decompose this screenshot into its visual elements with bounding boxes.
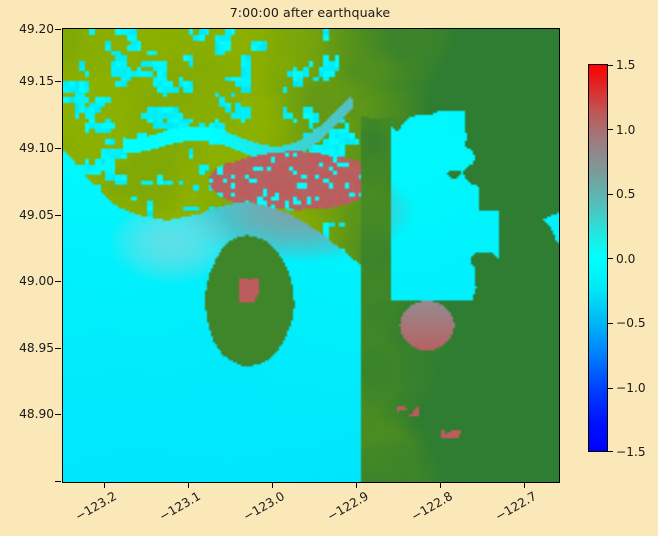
x-axis-labels: −123.2 −123.1 −123.0 −122.9 −122.8 −122.… <box>62 483 558 535</box>
xtick-label: −123.0 <box>232 489 287 529</box>
colorbar-tick-label: −1.5 <box>616 445 646 459</box>
colorbar-tick-mark <box>608 65 613 66</box>
ytick-label: 48.95 <box>2 341 54 355</box>
ytick-label: 49.05 <box>2 208 54 222</box>
ytick-mark <box>55 148 61 149</box>
ytick-label: 48.90 <box>2 407 54 421</box>
xtick-label: −122.7 <box>484 489 539 529</box>
colorbar-gradient <box>588 64 608 452</box>
ytick-label: 49.15 <box>2 74 54 88</box>
colorbar-tick-label: −0.5 <box>616 316 646 330</box>
page-title: 7:00:00 after earthquake <box>62 5 558 20</box>
ytick-mark <box>55 281 61 282</box>
ytick-mark <box>55 81 61 82</box>
y-axis-labels: 49.20 49.15 49.10 49.05 49.00 48.95 48.9… <box>0 28 54 481</box>
colorbar-tick-label: −1.0 <box>616 381 646 395</box>
colorbar-tick-mark <box>608 258 613 259</box>
ytick-label: 49.00 <box>2 274 54 288</box>
xtick-label: −122.8 <box>400 489 455 529</box>
xtick-label: −123.2 <box>64 489 119 529</box>
ytick-mark <box>55 215 61 216</box>
ytick-mark <box>55 29 61 30</box>
ytick-mark <box>55 481 61 482</box>
ytick-mark <box>55 348 61 349</box>
colorbar-tick-label: 1.5 <box>616 58 635 72</box>
colorbar-tick-mark <box>608 451 613 452</box>
ytick-label: 49.10 <box>2 141 54 155</box>
map-axes[interactable] <box>62 28 560 483</box>
colorbar-tick-label: 0.5 <box>616 187 635 201</box>
inundation-heatmap <box>63 29 559 482</box>
colorbar-tick-mark <box>608 194 613 195</box>
colorbar-tick-mark <box>608 129 613 130</box>
colorbar <box>588 64 608 452</box>
xtick-label: −123.1 <box>148 489 203 529</box>
ytick-label: 49.20 <box>2 22 54 36</box>
matplotlib-figure: 7:00:00 after earthquake 49.20 49.15 49.… <box>0 0 658 536</box>
colorbar-tick-mark <box>608 323 613 324</box>
xtick-label: −122.9 <box>316 489 371 529</box>
ytick-mark <box>55 414 61 415</box>
colorbar-tick-mark <box>608 388 613 389</box>
colorbar-tick-label: 1.0 <box>616 123 635 137</box>
colorbar-tick-label: 0.0 <box>616 252 635 266</box>
